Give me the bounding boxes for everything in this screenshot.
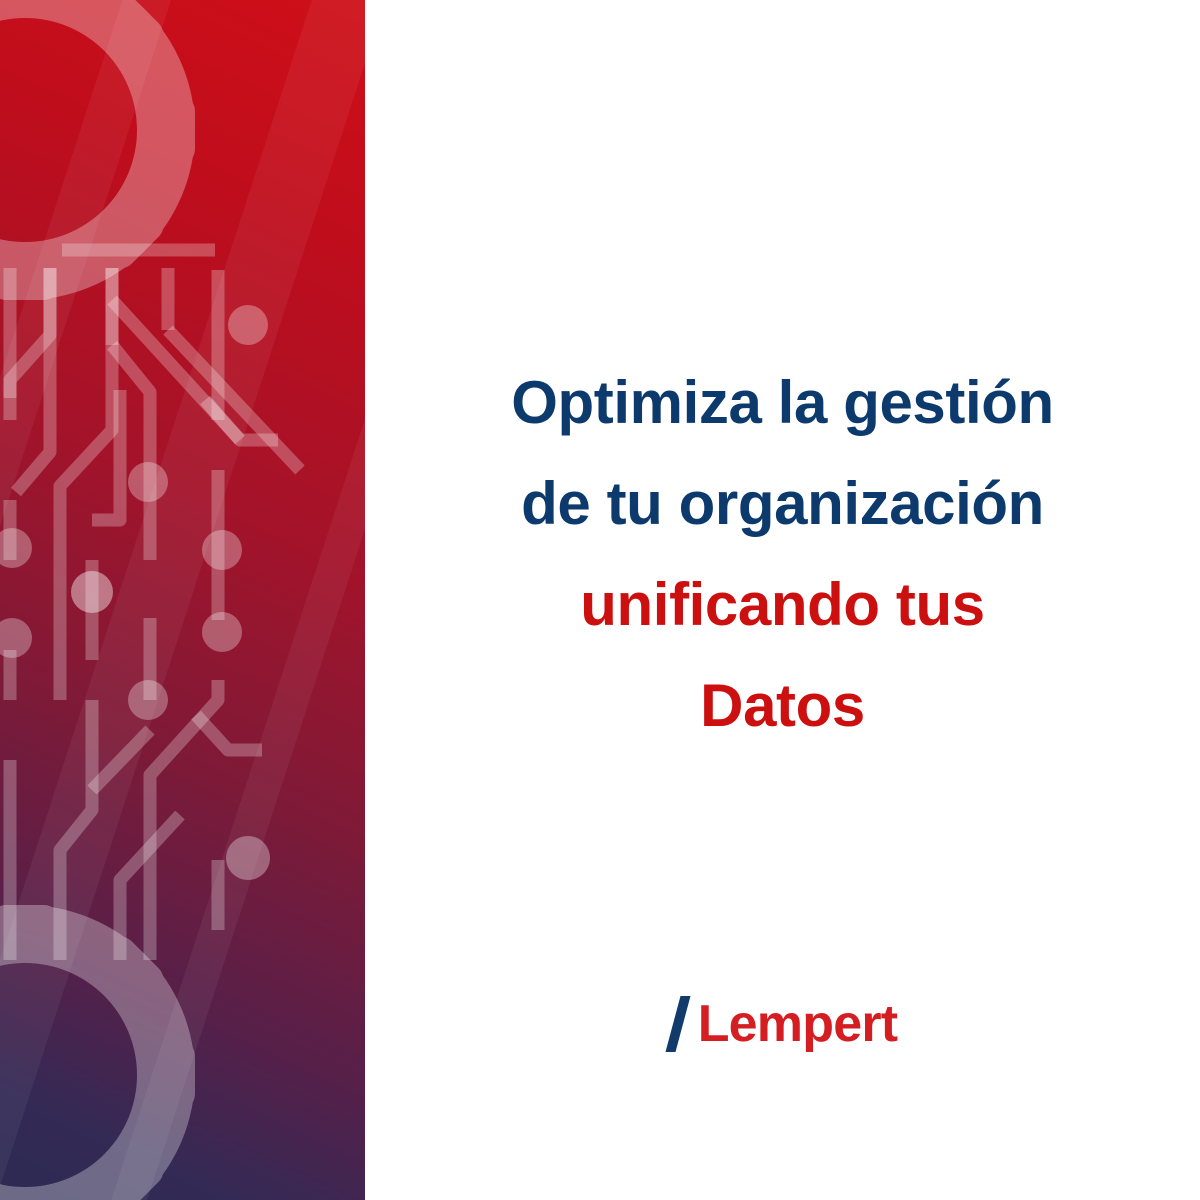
headline-line-3: unificando tus bbox=[420, 554, 1145, 655]
circuit-gear-artwork bbox=[0, 0, 365, 1200]
headline-line-1: Optimiza la gestión bbox=[420, 352, 1145, 453]
circuit-gear-graphic-panel bbox=[0, 0, 365, 1200]
poster-canvas: Optimiza la gestión de tu organización u… bbox=[0, 0, 1200, 1200]
slash-icon bbox=[668, 996, 688, 1052]
logo-wordmark: Lempert bbox=[698, 998, 898, 1050]
headline-line-4: Datos bbox=[420, 655, 1145, 756]
headline-line-2: de tu organización bbox=[420, 453, 1145, 554]
content-panel: Optimiza la gestión de tu organización u… bbox=[365, 0, 1200, 1200]
page-title: Optimiza la gestión de tu organización u… bbox=[420, 352, 1145, 756]
brand-logo: Lempert bbox=[420, 996, 1145, 1052]
